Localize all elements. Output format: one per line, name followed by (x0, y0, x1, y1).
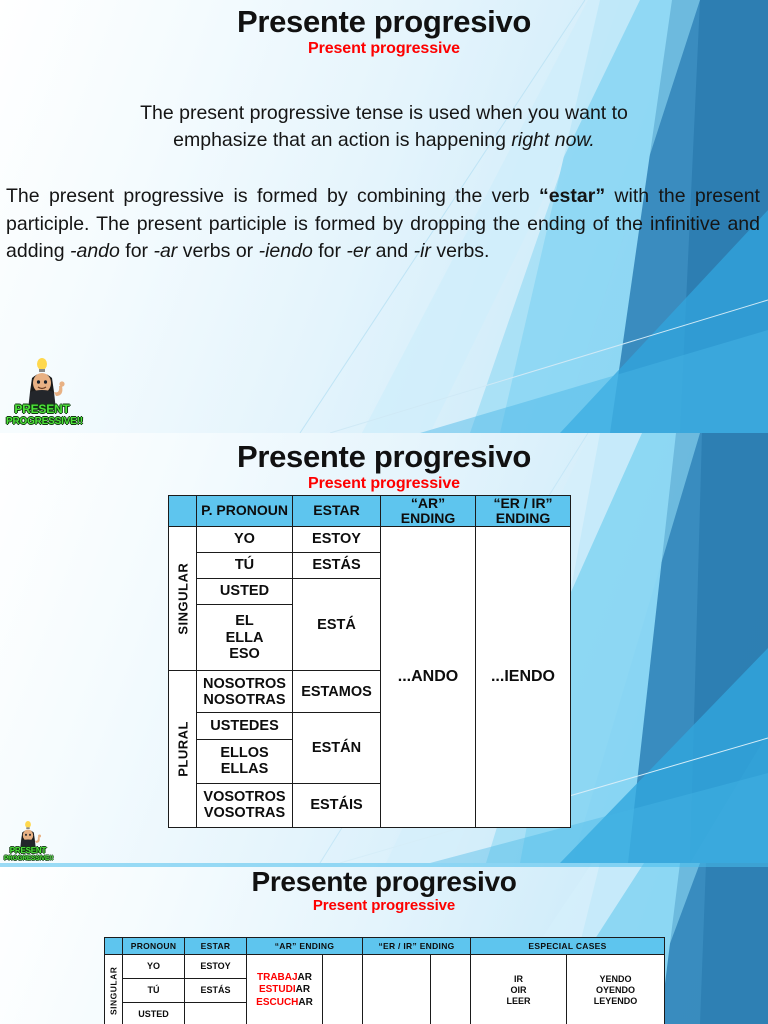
header-ar-ending: “AR” ENDING (247, 938, 363, 955)
header-pronoun: PRONOUN (123, 938, 185, 955)
paragraph-2-part-7: verbs. (431, 240, 490, 262)
header-ar-ending-line1: “AR” (411, 495, 445, 511)
pronoun-ustedes: USTEDES (197, 713, 293, 739)
estar-estas: ESTÁS (293, 552, 381, 578)
slide-2-title-spanish: Presente progresivo (0, 441, 768, 474)
header-pronoun: P. PRONOUN (197, 496, 293, 527)
ar-verb-1: TRABAJAR (247, 972, 322, 985)
pronoun-usted: USTED (123, 1003, 185, 1024)
special-gerund-leyendo: LEYENDO (567, 996, 664, 1007)
estar-estan: ESTÁN (293, 713, 381, 783)
header-erir-ending-line1: “ER / IR” (493, 495, 552, 511)
ar-verb-3-ending: AR (298, 997, 312, 1008)
header-estar: ESTAR (185, 938, 247, 955)
special-infinitive-leer: LEER (471, 996, 566, 1007)
er-suffix: -er (346, 240, 370, 262)
slide-1-title-english: Present progressive (0, 40, 768, 58)
header-corner (169, 496, 197, 527)
header-corner (105, 938, 123, 955)
pronoun-nosotras-f: NOSOTRAS (203, 692, 285, 708)
pronoun-ellos: ELLOS (220, 745, 268, 761)
paragraph-2-part-5: for (313, 240, 347, 262)
estar-estoy: ESTOY (185, 955, 247, 979)
header-ar-ending: “AR” ENDING (381, 496, 476, 527)
header-erir-ending: “ER / IR” ENDING (363, 938, 471, 955)
special-gerund-yendo: YENDO (567, 974, 664, 985)
estar-blank (185, 1003, 247, 1024)
special-infinitive-ir: IR (471, 974, 566, 985)
ar-verb-3: ESCUCHAR (247, 997, 322, 1010)
slide-1: Presente progresivo Present progressive … (0, 0, 768, 433)
conjugation-table-basic: P. PRONOUN ESTAR “AR” ENDING “ER / IR” E… (168, 495, 570, 828)
ar-suffix: -ar (153, 240, 177, 262)
paragraph-1-line-1: The present progressive tense is used wh… (140, 102, 628, 124)
estar-estamos: ESTAMOS (293, 671, 381, 713)
badge-word-present: PRESENT (4, 846, 52, 855)
badge-word-progressive: PROGRESSIVE!! (6, 416, 78, 427)
table-row: SINGULAR YO ESTOY TRABAJAR ESTUDIAR ESCU… (105, 955, 665, 979)
pronoun-ellas: ELLAS (221, 761, 269, 777)
slide-3-title-block: Presente progresivo Present progressive (0, 863, 768, 914)
badge-word-progressive: PROGRESSIVE!! (4, 855, 52, 862)
iendo-suffix: -iendo (259, 240, 313, 262)
pronoun-el: EL (235, 613, 254, 629)
ir-suffix: -ir (414, 240, 431, 262)
group-label-singular: SINGULAR (105, 955, 123, 1024)
special-infinitive-oir: OIR (471, 985, 566, 996)
pronoun-vosotras-f: VOSOTRAS (204, 805, 285, 821)
slide-1-paragraph-1: The present progressive tense is used wh… (52, 100, 716, 155)
special-infinitives: IR OIR LEER (471, 955, 567, 1024)
pronoun-tu: TÚ (197, 552, 293, 578)
ar-verb-1-ending: AR (298, 972, 312, 983)
pronoun-eso: ESO (229, 646, 260, 662)
ar-ending-value: ...ANDO (381, 526, 476, 827)
header-erir-ending-line2: ENDING (496, 510, 550, 526)
ando-suffix: -ando (70, 240, 120, 262)
special-gerund-oyendo: OYENDO (567, 985, 664, 996)
paragraph-2-part-6: and (370, 240, 413, 262)
table-header-row: P. PRONOUN ESTAR “AR” ENDING “ER / IR” E… (169, 496, 571, 527)
table-row: SINGULAR YO ESTOY ...ANDO ...IENDO (169, 526, 571, 552)
header-especial-cases: ESPECIAL CASES (471, 938, 665, 955)
estar-estas: ESTÁS (185, 979, 247, 1003)
present-progressive-badge: PRESENT PROGRESSIVE!! (6, 358, 78, 430)
slide-2-title-block: Presente progresivo Present progressive (0, 433, 768, 493)
header-estar: ESTAR (293, 496, 381, 527)
pronoun-yo: YO (123, 955, 185, 979)
slide-1-title-spanish: Presente progresivo (0, 6, 768, 39)
pronoun-el-ella-eso: EL ELLA ESO (197, 604, 293, 670)
conjugation-table-special-cases: PRONOUN ESTAR “AR” ENDING “ER / IR” ENDI… (104, 937, 664, 1024)
ar-verb-2: ESTUDIAR (247, 984, 322, 997)
ar-verb-2-stem: ESTUDI (259, 984, 296, 995)
badge-word-present: PRESENT (6, 402, 78, 416)
estar-estais: ESTÁIS (293, 783, 381, 827)
paragraph-2-part-1: The present progressive is formed by com… (6, 185, 539, 207)
pronoun-yo: YO (197, 526, 293, 552)
paragraph-1-emphasis: right now. (511, 129, 594, 151)
group-label-plural: PLURAL (169, 671, 197, 828)
pronoun-vosotros: VOSOTROS VOSOTRAS (197, 783, 293, 827)
ar-verb-3-stem: ESCUCH (256, 997, 298, 1008)
pronoun-nosotros-m: NOSOTROS (203, 676, 286, 692)
estar-esta: ESTÁ (293, 578, 381, 670)
paragraph-2-part-4: verbs or (177, 240, 258, 262)
ar-verb-examples: TRABAJAR ESTUDIAR ESCUCHAR (247, 955, 323, 1024)
ar-gerund-column (323, 955, 363, 1024)
pronoun-tu: TÚ (123, 979, 185, 1003)
paragraph-2-part-3: for (120, 240, 154, 262)
estar-keyword: “estar” (539, 185, 605, 207)
slide-3-title-spanish: Presente progresivo (0, 867, 768, 896)
paragraph-1-line-2-text: emphasize that an action is happening (173, 129, 511, 151)
present-progressive-badge: PRESENT PROGRESSIVE!! (4, 821, 52, 863)
erir-gerund-column (431, 955, 471, 1024)
pronoun-ella: ELLA (226, 630, 264, 646)
pronoun-usted: USTED (197, 578, 293, 604)
special-gerunds: YENDO OYENDO LEYENDO (567, 955, 665, 1024)
erir-verb-column (363, 955, 431, 1024)
ar-verb-1-stem: TRABAJ (257, 972, 298, 983)
estar-estoy: ESTOY (293, 526, 381, 552)
slide-2-title-english: Present progressive (0, 475, 768, 493)
group-label-singular: SINGULAR (169, 526, 197, 671)
pronoun-ellos-ellas: ELLOS ELLAS (197, 739, 293, 783)
slide-3: Presente progresivo Present progressive … (0, 863, 768, 1024)
ar-verb-2-ending: AR (296, 984, 310, 995)
table-header-row: PRONOUN ESTAR “AR” ENDING “ER / IR” ENDI… (105, 938, 665, 955)
header-erir-ending: “ER / IR” ENDING (476, 496, 571, 527)
header-ar-ending-line2: ENDING (401, 510, 455, 526)
erir-ending-value: ...IENDO (476, 526, 571, 827)
pronoun-vosotros-m: VOSOTROS (203, 789, 285, 805)
presentation-deck: Presente progresivo Present progressive … (0, 0, 768, 1024)
slide-1-title-block: Presente progresivo Present progressive (0, 0, 768, 58)
slide-1-paragraph-2: The present progressive is formed by com… (6, 183, 760, 266)
slide-2: Presente progresivo Present progressive … (0, 433, 768, 863)
slide-3-title-english: Present progressive (0, 897, 768, 914)
pronoun-nosotros: NOSOTROS NOSOTRAS (197, 671, 293, 713)
